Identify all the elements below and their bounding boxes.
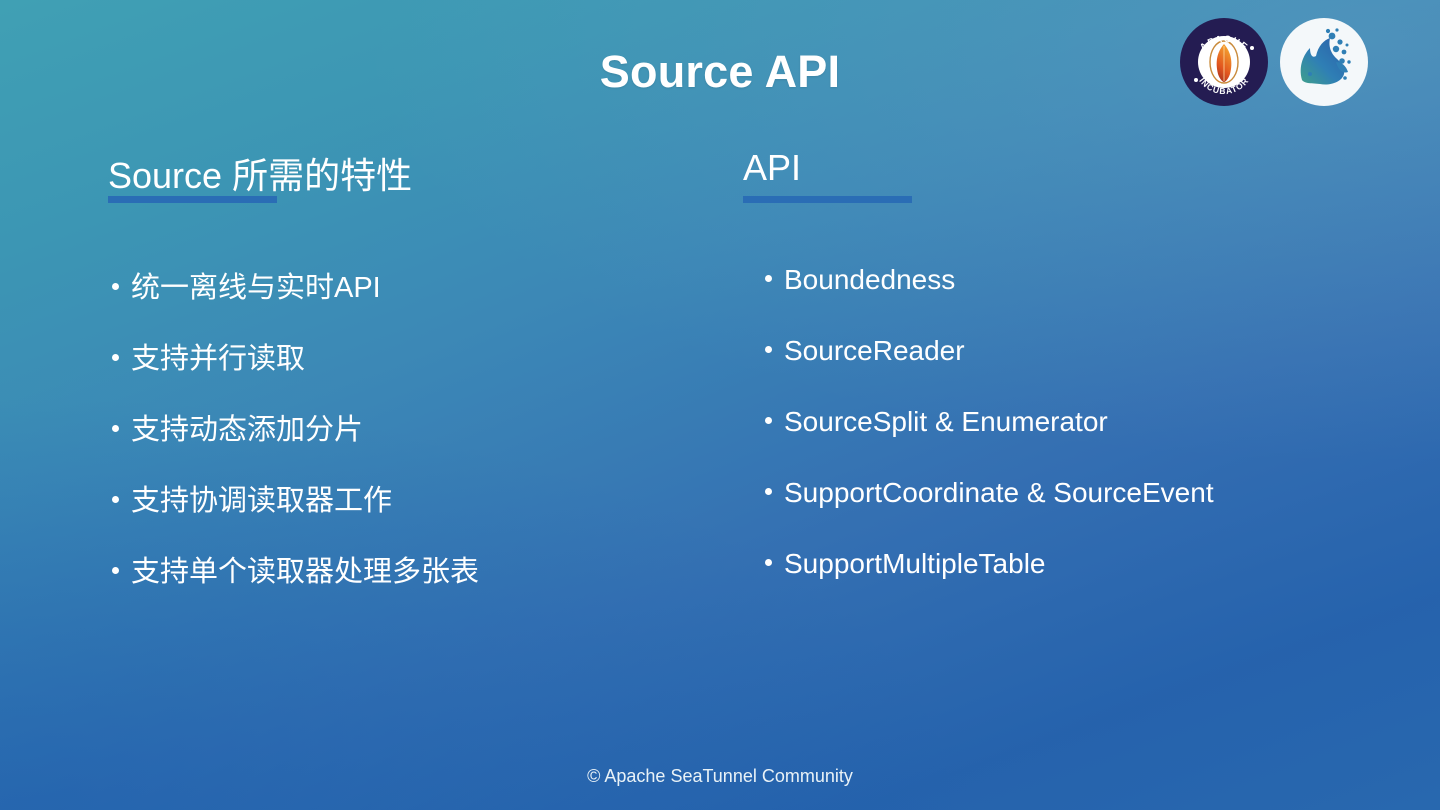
bullet-dot-icon <box>765 417 772 424</box>
list-item: 支持单个读取器处理多张表 <box>112 548 672 619</box>
list-item: 统一离线与实时API <box>112 264 672 335</box>
list-item-label: 支持动态添加分片 <box>131 406 363 448</box>
list-item-label: 支持单个读取器处理多张表 <box>131 548 479 590</box>
footer-copyright: © Apache SeaTunnel Community <box>0 766 1440 787</box>
apache-feather-icon: APACHE INCUBATOR <box>1180 18 1268 106</box>
bullet-dot-icon <box>765 559 772 566</box>
list-item: 支持并行读取 <box>112 335 672 406</box>
list-item-label: SupportCoordinate & SourceEvent <box>784 477 1214 509</box>
list-item: SupportMultipleTable <box>765 548 1385 619</box>
list-item-label: SourceReader <box>784 335 965 367</box>
column-heading-source-features: Source 所需的特性 <box>108 147 412 199</box>
list-item-label: SupportMultipleTable <box>784 548 1046 580</box>
seatunnel-wave-icon <box>1280 18 1368 106</box>
list-item-label: 支持并行读取 <box>131 335 305 377</box>
bullet-dot-icon <box>112 283 119 290</box>
logo-row: APACHE INCUBATOR <box>1180 18 1368 106</box>
slide-canvas: Source API <box>0 0 1440 810</box>
list-item: SupportCoordinate & SourceEvent <box>765 477 1385 548</box>
seatunnel-logo <box>1280 18 1368 106</box>
heading-underline-right <box>743 196 912 203</box>
list-item: SourceReader <box>765 335 1385 406</box>
bullet-dot-icon <box>112 567 119 574</box>
column-heading-api: API <box>743 147 801 189</box>
bullet-dot-icon <box>765 346 772 353</box>
list-item-label: Boundedness <box>784 264 955 296</box>
list-item-label: 支持协调读取器工作 <box>131 477 392 519</box>
bullet-dot-icon <box>112 425 119 432</box>
bullet-dot-icon <box>112 496 119 503</box>
list-item: Boundedness <box>765 264 1385 335</box>
bullet-dot-icon <box>765 488 772 495</box>
list-item-label: 统一离线与实时API <box>131 264 381 306</box>
bullet-list-source-features: 统一离线与实时API 支持并行读取 支持动态添加分片 支持协调读取器工作 支持单… <box>112 264 672 619</box>
bullet-dot-icon <box>112 354 119 361</box>
heading-underline-left <box>108 196 277 203</box>
list-item-label: SourceSplit & Enumerator <box>784 406 1108 438</box>
list-item: SourceSplit & Enumerator <box>765 406 1385 477</box>
list-item: 支持动态添加分片 <box>112 406 672 477</box>
bullet-dot-icon <box>765 275 772 282</box>
apache-incubator-logo: APACHE INCUBATOR <box>1180 18 1268 106</box>
list-item: 支持协调读取器工作 <box>112 477 672 548</box>
bullet-list-api: Boundedness SourceReader SourceSplit & E… <box>765 264 1385 619</box>
